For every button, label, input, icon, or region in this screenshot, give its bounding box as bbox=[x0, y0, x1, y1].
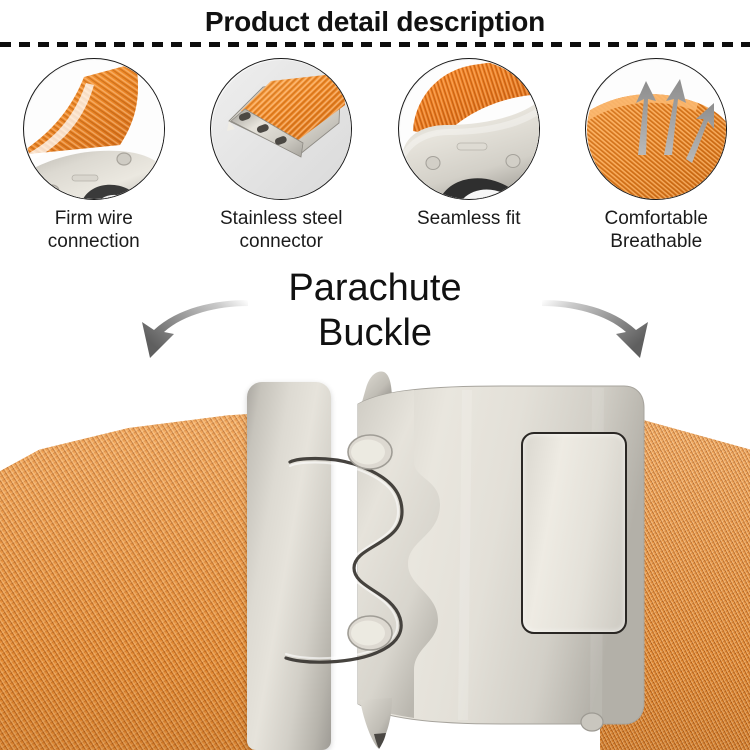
feature-label-stainless-steel-connector: Stainless steel connector bbox=[188, 207, 376, 253]
parachute-buckle bbox=[0, 370, 750, 750]
feature-label-line: connection bbox=[0, 230, 188, 253]
feature-item-firm-wire-connection: Firm wire connection bbox=[0, 58, 188, 253]
feature-item-stainless-steel-connector: Stainless steel connector bbox=[188, 58, 376, 253]
circle-photo-breathable-icon bbox=[585, 58, 727, 200]
feature-item-comfortable-breathable: Comfortable Breathable bbox=[563, 58, 750, 253]
feature-item-seamless-fit: Seamless fit bbox=[375, 58, 563, 253]
feature-label-seamless-fit: Seamless fit bbox=[375, 207, 563, 230]
feature-label-comfortable-breathable: Comfortable Breathable bbox=[563, 207, 750, 253]
feature-label-line: Seamless fit bbox=[375, 207, 563, 230]
page-title: Product detail description bbox=[0, 4, 750, 40]
feature-label-line: Firm wire bbox=[0, 207, 188, 230]
product-detail-description-page: Product detail description bbox=[0, 0, 750, 750]
feature-label-line: Comfortable bbox=[563, 207, 750, 230]
feature-label-line: Breathable bbox=[563, 230, 750, 253]
dashed-divider bbox=[0, 42, 750, 47]
circle-photo-firm-wire-icon bbox=[23, 58, 165, 200]
circle-photo-connector-icon bbox=[210, 58, 352, 200]
buckle-photo-description: Metal parachute cobra buckle fastened on… bbox=[0, 0, 1, 1]
feature-highlights-row: Firm wire connection bbox=[0, 58, 750, 253]
release-button[interactable] bbox=[521, 432, 627, 634]
screw-hole-bottom-right bbox=[581, 713, 603, 731]
feature-label-firm-wire-connection: Firm wire connection bbox=[0, 207, 188, 253]
circle-photo-seamless-fit-icon bbox=[398, 58, 540, 200]
curved-arrow-left-icon bbox=[140, 300, 250, 370]
feature-label-line: Stainless steel bbox=[188, 207, 376, 230]
buckle-photo bbox=[0, 370, 750, 750]
feature-label-line: connector bbox=[188, 230, 376, 253]
curved-arrow-right-icon bbox=[540, 300, 650, 370]
